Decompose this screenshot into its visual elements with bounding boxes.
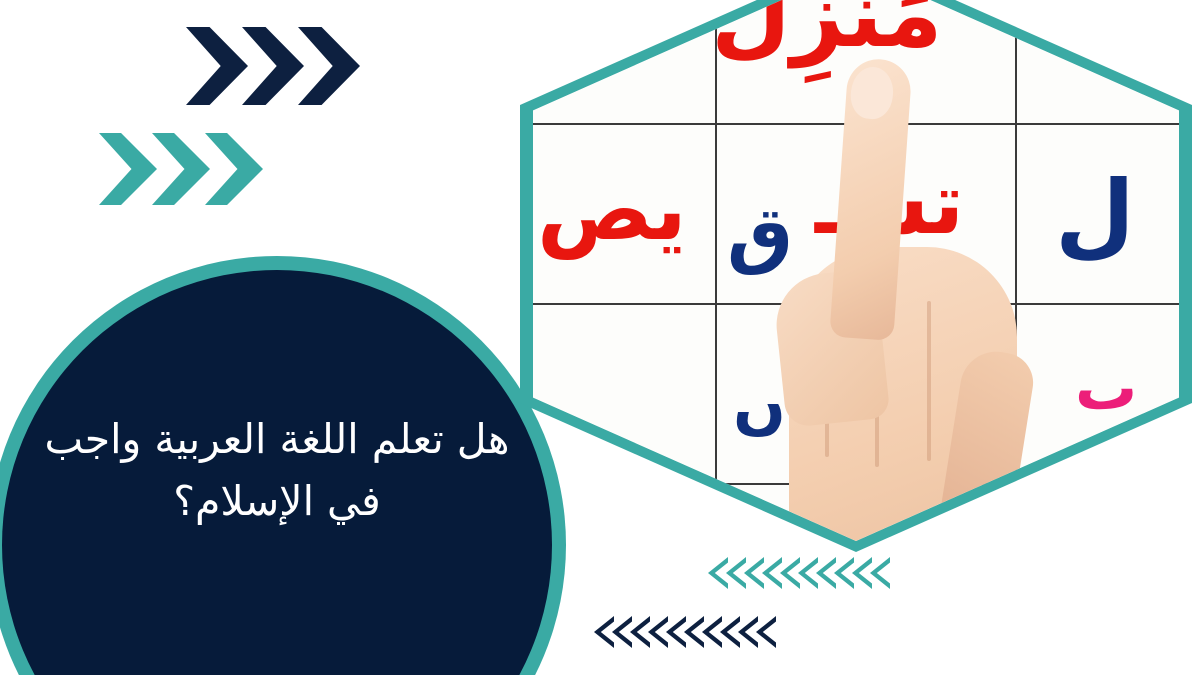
teal-chevron-strip [708, 557, 888, 589]
worksheet-word: تسـ [815, 161, 964, 247]
hand-crease [875, 291, 879, 467]
chevron-left-icon [612, 616, 632, 648]
chevron-left-icon [738, 616, 758, 648]
teal-chevron-arrows [99, 133, 258, 205]
worksheet-word: ل [1055, 169, 1135, 261]
chevron-right-icon [298, 27, 360, 105]
hand-crease [825, 307, 829, 457]
chevron-left-icon [630, 616, 650, 648]
chevron-right-icon [152, 133, 210, 205]
worksheet-grid: مَنْزِل ه يص تسـ ق ل ه ٮ ں [533, 0, 1179, 541]
hand-knuckle [771, 268, 890, 428]
grid-line-h [533, 123, 1179, 125]
chevron-left-icon [798, 557, 818, 589]
chevron-left-icon [666, 616, 686, 648]
chevron-left-icon [852, 557, 872, 589]
chevron-left-icon [816, 557, 836, 589]
chevron-left-icon [762, 557, 782, 589]
headline-circle-ring: هل تعلم اللغة العربية واجب في الإسلام؟ [0, 256, 566, 675]
hexagon-photo-frame: مَنْزِل ه يص تسـ ق ل ه ٮ ں [520, 0, 1192, 552]
chevron-right-icon [186, 27, 248, 105]
page-title: هل تعلم اللغة العربية واجب في الإسلام؟ [27, 408, 527, 533]
chevron-left-icon [756, 616, 776, 648]
chevron-left-icon [684, 616, 704, 648]
chevron-left-icon [702, 616, 722, 648]
worksheet-word: ں [733, 375, 786, 437]
chevron-right-icon [99, 133, 157, 205]
worksheet-word: ه [643, 0, 674, 41]
chevron-left-icon [726, 557, 746, 589]
chevron-left-icon [870, 557, 890, 589]
worksheet-word: يص [537, 167, 687, 253]
chevron-left-icon [708, 557, 728, 589]
chevron-left-icon [594, 616, 614, 648]
worksheet-word: ه [963, 367, 1000, 429]
hand-crease [927, 301, 931, 461]
worksheet-word: ٮ [1075, 357, 1137, 419]
chevron-left-icon [744, 557, 764, 589]
chevron-right-icon [242, 27, 304, 105]
grid-line-v [715, 0, 717, 507]
navy-chevron-strip [594, 616, 774, 648]
worksheet-word: ق [727, 197, 793, 271]
chevron-left-icon [648, 616, 668, 648]
chevron-left-icon [834, 557, 854, 589]
thumbnail-canvas: هل تعلم اللغة العربية واجب في الإسلام؟ م… [0, 0, 1200, 675]
grid-line-h [533, 303, 1179, 305]
chevron-left-icon [720, 616, 740, 648]
chevron-right-icon [205, 133, 263, 205]
headline-circle: هل تعلم اللغة العربية واجب في الإسلام؟ [2, 270, 552, 675]
worksheet-photo: مَنْزِل ه يص تسـ ق ل ه ٮ ں [533, 0, 1179, 541]
navy-chevron-arrows [186, 27, 354, 105]
grid-line-v [1015, 0, 1017, 507]
chevron-left-icon [780, 557, 800, 589]
fingernail [848, 65, 895, 121]
